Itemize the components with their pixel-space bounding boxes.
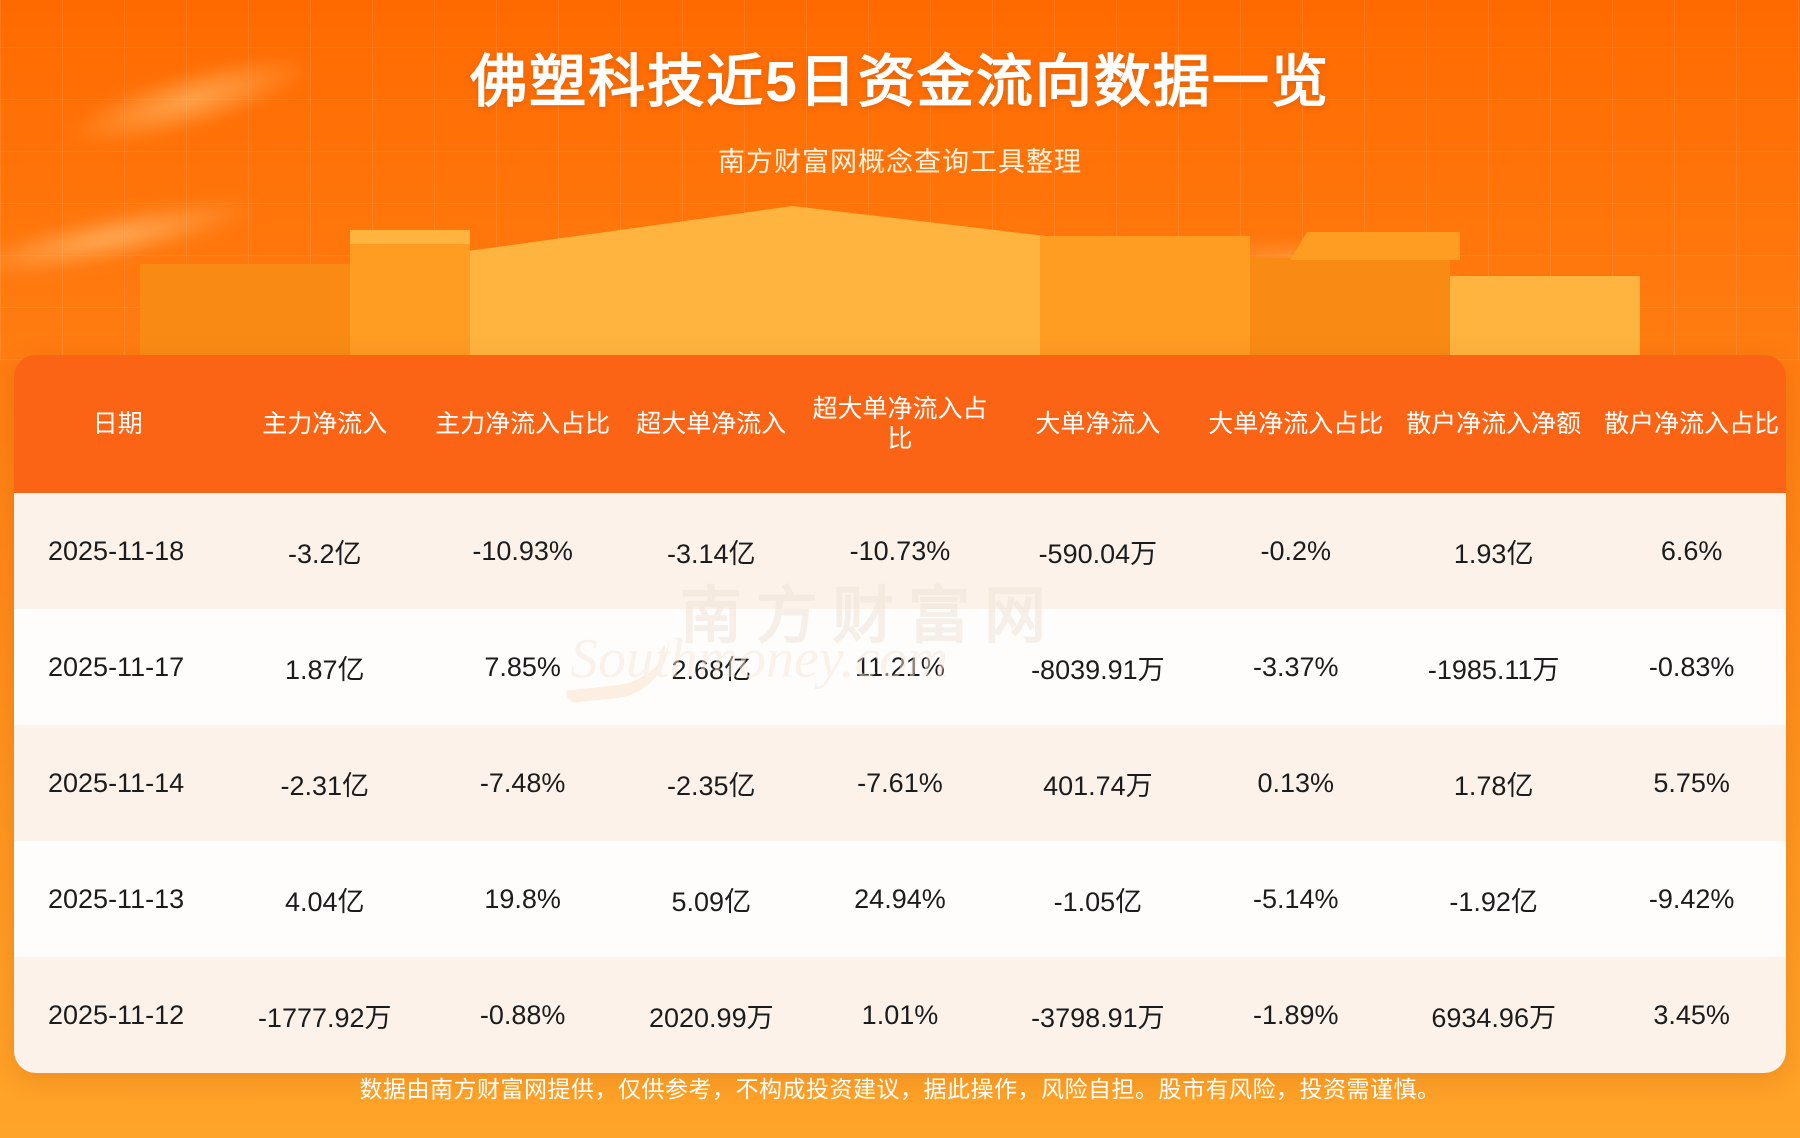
table-row: 2025-11-18 -3.2亿 -10.93% -3.14亿 -10.73% … xyxy=(14,493,1786,609)
cell-date: 2025-11-18 xyxy=(14,493,221,609)
cell-large-net-inflow: -3798.91万 xyxy=(994,957,1201,1073)
cell-date: 2025-11-14 xyxy=(14,725,221,841)
column-header-date: 日期 xyxy=(14,355,221,493)
cell-large-net-inflow: -590.04万 xyxy=(994,493,1201,609)
cell-xl-net-inflow: 2020.99万 xyxy=(617,957,806,1073)
cell-main-net-inflow: -3.2亿 xyxy=(221,493,428,609)
column-header-main-net-inflow: 主力净流入 xyxy=(221,355,428,493)
cell-retail-net-ratio: 6.6% xyxy=(1597,493,1786,609)
cell-large-net-inflow: -1.05亿 xyxy=(994,841,1201,957)
cell-retail-net-ratio: -9.42% xyxy=(1597,841,1786,957)
cell-xl-net-ratio: 11.21% xyxy=(806,609,995,725)
cell-main-net-inflow: 4.04亿 xyxy=(221,841,428,957)
cell-xl-net-inflow: 5.09亿 xyxy=(617,841,806,957)
cell-xl-net-inflow: -3.14亿 xyxy=(617,493,806,609)
cell-date: 2025-11-17 xyxy=(14,609,221,725)
cell-retail-net-amount: 6934.96万 xyxy=(1390,957,1597,1073)
cell-xl-net-inflow: -2.35亿 xyxy=(617,725,806,841)
table-header: 日期 主力净流入 主力净流入占比 超大单净流入 超大单净流入占比 大单净流入 大… xyxy=(14,355,1786,493)
cell-main-net-ratio: -7.48% xyxy=(428,725,617,841)
podium-decoration xyxy=(0,196,1800,366)
cell-date: 2025-11-13 xyxy=(14,841,221,957)
cell-large-net-ratio: -1.89% xyxy=(1201,957,1390,1073)
cell-main-net-ratio: -0.88% xyxy=(428,957,617,1073)
cell-large-net-ratio: -5.14% xyxy=(1201,841,1390,957)
cell-xl-net-ratio: -7.61% xyxy=(806,725,995,841)
table-row: 2025-11-14 -2.31亿 -7.48% -2.35亿 -7.61% 4… xyxy=(14,725,1786,841)
cell-retail-net-amount: -1.92亿 xyxy=(1390,841,1597,957)
cell-xl-net-ratio: 1.01% xyxy=(806,957,995,1073)
cell-retail-net-amount: 1.78亿 xyxy=(1390,725,1597,841)
cell-retail-net-ratio: -0.83% xyxy=(1597,609,1786,725)
column-header-large-net-ratio: 大单净流入占比 xyxy=(1201,355,1390,493)
fund-flow-table: 日期 主力净流入 主力净流入占比 超大单净流入 超大单净流入占比 大单净流入 大… xyxy=(14,355,1786,1073)
cell-date: 2025-11-12 xyxy=(14,957,221,1073)
fund-flow-table-card: 日期 主力净流入 主力净流入占比 超大单净流入 超大单净流入占比 大单净流入 大… xyxy=(14,355,1786,1073)
cell-xl-net-ratio: 24.94% xyxy=(806,841,995,957)
column-header-xl-net-inflow: 超大单净流入 xyxy=(617,355,806,493)
cell-main-net-inflow: -2.31亿 xyxy=(221,725,428,841)
cell-main-net-ratio: 7.85% xyxy=(428,609,617,725)
table-row: 2025-11-13 4.04亿 19.8% 5.09亿 24.94% -1.0… xyxy=(14,841,1786,957)
page-root: 佛塑科技近5日资金流向数据一览 南方财富网概念查询工具整理 日期 主力净流入 主… xyxy=(0,0,1800,1138)
page-title: 佛塑科技近5日资金流向数据一览 xyxy=(0,36,1800,118)
page-subtitle: 南方财富网概念查询工具整理 xyxy=(0,140,1800,179)
cell-large-net-inflow: 401.74万 xyxy=(994,725,1201,841)
cell-main-net-ratio: 19.8% xyxy=(428,841,617,957)
column-header-retail-net-amount: 散户净流入净额 xyxy=(1390,355,1597,493)
cell-xl-net-ratio: -10.73% xyxy=(806,493,995,609)
cell-main-net-ratio: -10.93% xyxy=(428,493,617,609)
cell-main-net-inflow: -1777.92万 xyxy=(221,957,428,1073)
cell-large-net-ratio: -3.37% xyxy=(1201,609,1390,725)
disclaimer-text: 数据由南方财富网提供，仅供参考，不构成投资建议，据此操作，风险自担。股市有风险，… xyxy=(0,1070,1800,1104)
table-body: 2025-11-18 -3.2亿 -10.93% -3.14亿 -10.73% … xyxy=(14,493,1786,1073)
cell-large-net-ratio: -0.2% xyxy=(1201,493,1390,609)
cell-retail-net-amount: -1985.11万 xyxy=(1390,609,1597,725)
cell-retail-net-amount: 1.93亿 xyxy=(1390,493,1597,609)
cell-xl-net-inflow: 2.68亿 xyxy=(617,609,806,725)
column-header-xl-net-ratio: 超大单净流入占比 xyxy=(806,355,995,493)
column-header-retail-net-ratio: 散户净流入占比 xyxy=(1597,355,1786,493)
table-row: 2025-11-12 -1777.92万 -0.88% 2020.99万 1.0… xyxy=(14,957,1786,1073)
column-header-main-net-ratio: 主力净流入占比 xyxy=(428,355,617,493)
column-header-large-net-inflow: 大单净流入 xyxy=(994,355,1201,493)
cell-retail-net-ratio: 5.75% xyxy=(1597,725,1786,841)
cell-large-net-inflow: -8039.91万 xyxy=(994,609,1201,725)
cell-large-net-ratio: 0.13% xyxy=(1201,725,1390,841)
table-header-row: 日期 主力净流入 主力净流入占比 超大单净流入 超大单净流入占比 大单净流入 大… xyxy=(14,355,1786,493)
table-row: 2025-11-17 1.87亿 7.85% 2.68亿 11.21% -803… xyxy=(14,609,1786,725)
cell-main-net-inflow: 1.87亿 xyxy=(221,609,428,725)
cell-retail-net-ratio: 3.45% xyxy=(1597,957,1786,1073)
